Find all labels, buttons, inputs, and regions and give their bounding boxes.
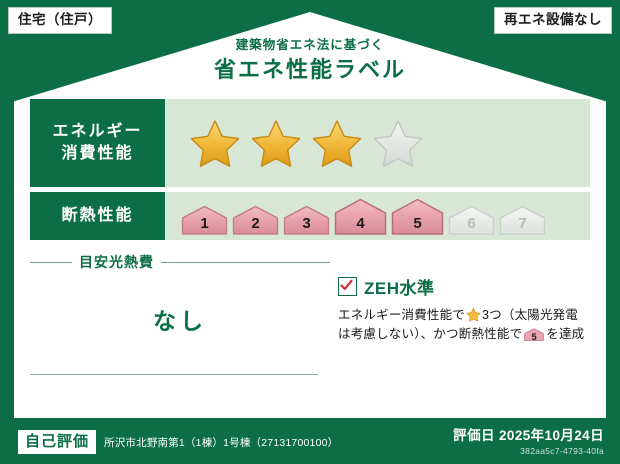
insulation-level-7: 7 [499,205,546,235]
zeh-title-row: ZEH水準 [338,274,590,299]
page-title: 省エネ性能ラベル [0,56,620,84]
insulation-level-7-number: 7 [499,216,546,231]
zeh-desc-part1: エネルギー消費性能で [338,308,465,322]
insulation-level-6-number: 6 [448,216,495,231]
star-filled-icon [250,118,302,168]
zeh-desc-part3: は考慮しない）、かつ断熱性能で [338,327,522,341]
insulation-level-5-number: 5 [391,216,444,231]
insulation-level-5: 5 [391,198,444,235]
insulation-performance-body: 1 2 3 [165,192,590,240]
star-empty-icon [372,118,424,168]
zeh-block: ZEH水準 エネルギー消費性能で 3つ（太陽光発電 は考慮しない）、かつ断熱性能… [330,252,590,345]
footer-bar: 自己評価 所沢市北野南第1（1棟）1号棟（27131700100） 評価日 20… [0,420,620,464]
insulation-label-text: 断熱性能 [61,205,133,227]
energy-performance-body [165,99,590,187]
insulation-level-3: 3 [283,205,330,235]
footer-left: 自己評価 所沢市北野南第1（1棟）1号棟（27131700100） [18,430,338,454]
insulation-level-scale: 1 2 3 [181,198,546,235]
zeh-title: ZEH水準 [364,274,435,299]
utility-cost-heading: 目安光熱費 [79,252,154,272]
inline-house-level-number: 5 [524,333,544,342]
insulation-level-2: 2 [232,205,279,235]
heading-rule-left [30,262,72,263]
energy-performance-row: エネルギー 消費性能 [30,99,590,187]
performance-rows: エネルギー 消費性能 [30,99,590,245]
insulation-level-4: 4 [334,198,387,235]
insulation-performance-label: 断熱性能 [30,192,165,240]
energy-label-line2: 消費性能 [61,143,133,165]
insulation-performance-row: 断熱性能 [30,192,590,240]
energy-performance-label: エネルギー 消費性能 [30,99,165,187]
inline-house-level-icon: 5 [524,327,544,342]
insulation-level-1-number: 1 [181,216,228,231]
star-rating [189,118,424,168]
check-icon [340,279,353,292]
star-filled-icon [189,118,241,168]
lower-section: 目安光熱費 なし ZEH水準 エネルギー消費性能で 3つ（太陽光発電 は考 [30,252,590,345]
title-subtitle: 建築物省エネ法に基づく [0,38,620,53]
insulation-level-6: 6 [448,205,495,235]
property-address: 所沢市北野南第1（1棟）1号棟（27131700100） [104,435,338,450]
heading-rule-right [161,262,330,263]
evaluation-id: 382aa5c7-4793-40fa [453,446,604,456]
energy-label-line1: エネルギー [52,121,142,143]
utility-cost-value: なし [30,302,330,336]
zeh-checkbox[interactable] [338,277,357,296]
self-evaluation-badge: 自己評価 [18,430,96,454]
zeh-desc-part4: を達成 [546,327,584,341]
insulation-level-1: 1 [181,205,228,235]
star-filled-icon [311,118,363,168]
insulation-level-4-number: 4 [334,216,387,231]
zeh-desc-part2: 3つ（太陽光発電 [482,308,578,322]
utility-cost-bottom-rule [30,374,318,375]
zeh-description: エネルギー消費性能で 3つ（太陽光発電 は考慮しない）、かつ断熱性能で 5 を達… [338,306,590,345]
insulation-level-3-number: 3 [283,216,330,231]
insulation-level-2-number: 2 [232,216,279,231]
title-block: 建築物省エネ法に基づく 省エネ性能ラベル [0,38,620,84]
inline-star-icon [466,307,481,322]
utility-cost-block: 目安光熱費 なし [30,252,330,345]
footer-right: 評価日 2025年10月24日 382aa5c7-4793-40fa [453,428,604,456]
renewable-equipment-tag: 再エネ設備なし [494,7,612,34]
energy-label-root: 住宅（住戸） 再エネ設備なし 建築物省エネ法に基づく 省エネ性能ラベル エネルギ… [0,0,620,464]
building-type-tag: 住宅（住戸） [8,7,112,34]
evaluation-date: 評価日 2025年10月24日 [453,428,604,444]
utility-cost-heading-row: 目安光熱費 [30,252,330,272]
